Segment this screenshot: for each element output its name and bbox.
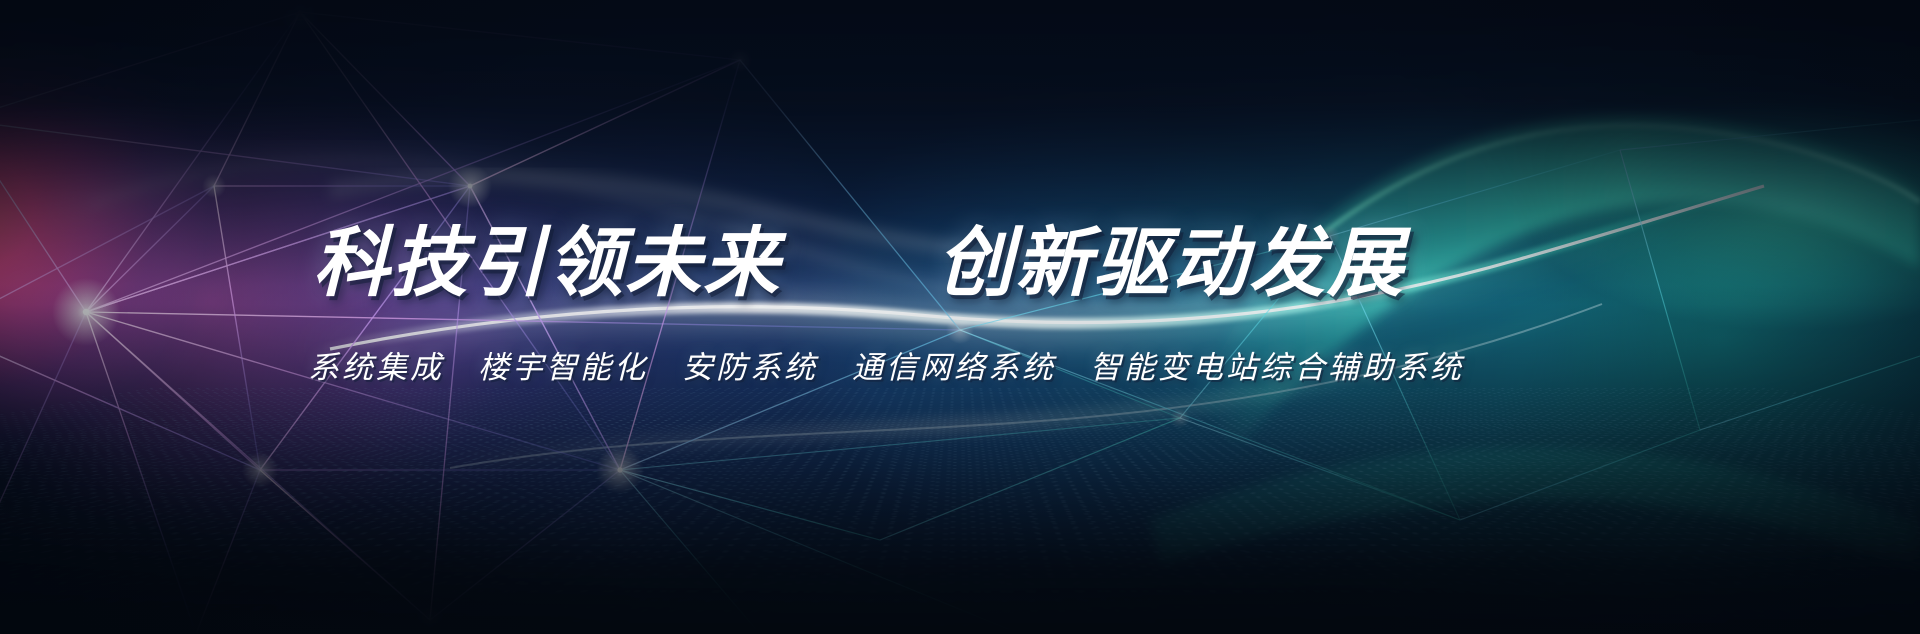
vignette: [0, 0, 1920, 634]
hero-banner: 科技引领未来 创新驱动发展 系统集成 楼宇智能化 安防系统 通信网络系统 智能变…: [0, 0, 1920, 634]
